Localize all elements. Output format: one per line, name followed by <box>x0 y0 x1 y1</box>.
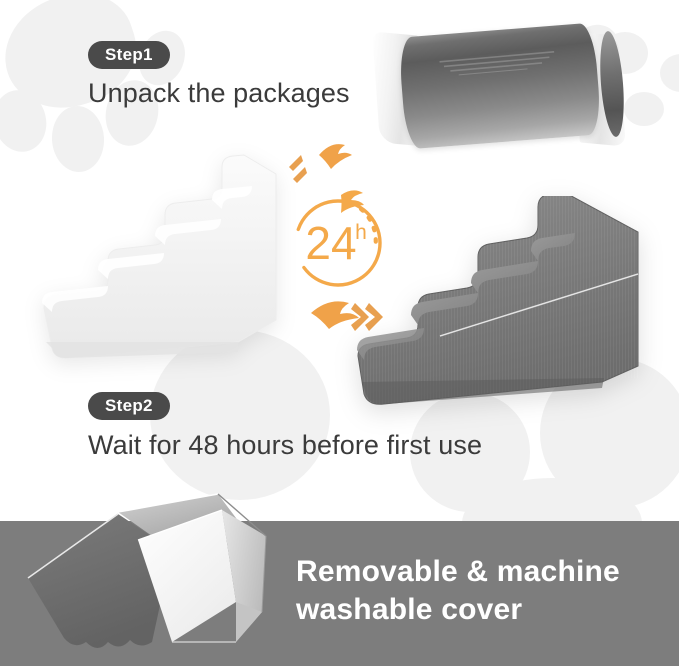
removable-cover-illustration <box>22 492 292 666</box>
vacuum-sealed-roll-illustration <box>380 28 620 150</box>
banner-line-2: washable cover <box>296 591 666 629</box>
step-1-badge: Step1 <box>88 41 170 69</box>
rolled-foam-body <box>398 22 602 149</box>
step-2-heading: Wait for 48 hours before first use <box>88 430 482 461</box>
white-foam-stairs-illustration <box>38 152 296 374</box>
gray-covered-stairs-illustration <box>352 196 664 414</box>
arrow-up-left-icon <box>289 144 352 183</box>
timer-number: 24 <box>305 217 356 269</box>
banner-line-1: Removable & machine <box>296 553 666 591</box>
step-1-heading: Unpack the packages <box>88 78 350 109</box>
step-2-badge: Step2 <box>88 392 170 420</box>
banner-heading: Removable & machine washable cover <box>296 553 666 628</box>
infographic-canvas: Step1 Unpack the packages <box>0 0 679 666</box>
